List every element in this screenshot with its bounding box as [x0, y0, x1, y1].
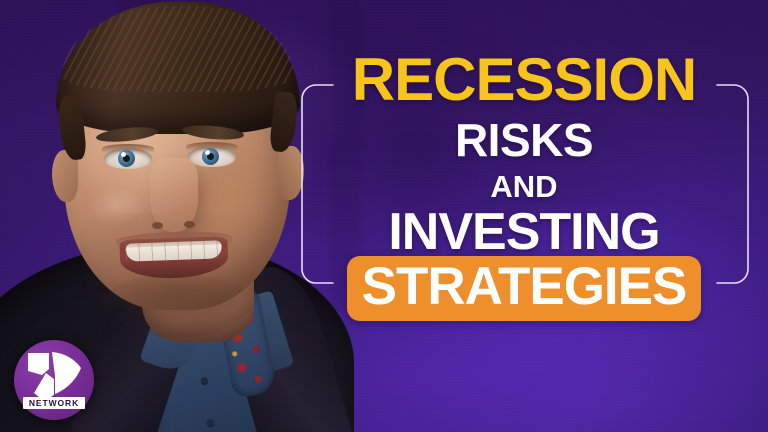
- nostril-left: [152, 222, 163, 229]
- eyelid-left: [102, 144, 154, 153]
- nostril-right: [184, 221, 195, 228]
- title-line-risks: RISKS: [300, 117, 748, 163]
- title-line-recession: RECESSION: [300, 50, 748, 110]
- title-block: RECESSION RISKS AND INVESTING STRATEGIES: [300, 50, 748, 321]
- title-line-and: AND: [300, 171, 748, 202]
- shirt-button: [207, 419, 214, 426]
- title-line-strategies: STRATEGIES: [347, 256, 702, 321]
- cheek-highlight: [88, 186, 144, 226]
- brand-logo: NETWORK: [14, 340, 94, 420]
- hair-strands: [62, 6, 294, 92]
- shirt-button: [201, 377, 208, 384]
- sideburn-right: [269, 91, 299, 153]
- eyelid-right: [186, 142, 238, 151]
- video-thumbnail: RECESSION RISKS AND INVESTING STRATEGIES…: [0, 0, 768, 432]
- title-strategies-banner: STRATEGIES: [300, 256, 748, 321]
- logo-tagline: NETWORK: [23, 397, 85, 409]
- title-line-investing: INVESTING: [300, 206, 748, 258]
- chin-shadow: [106, 274, 246, 320]
